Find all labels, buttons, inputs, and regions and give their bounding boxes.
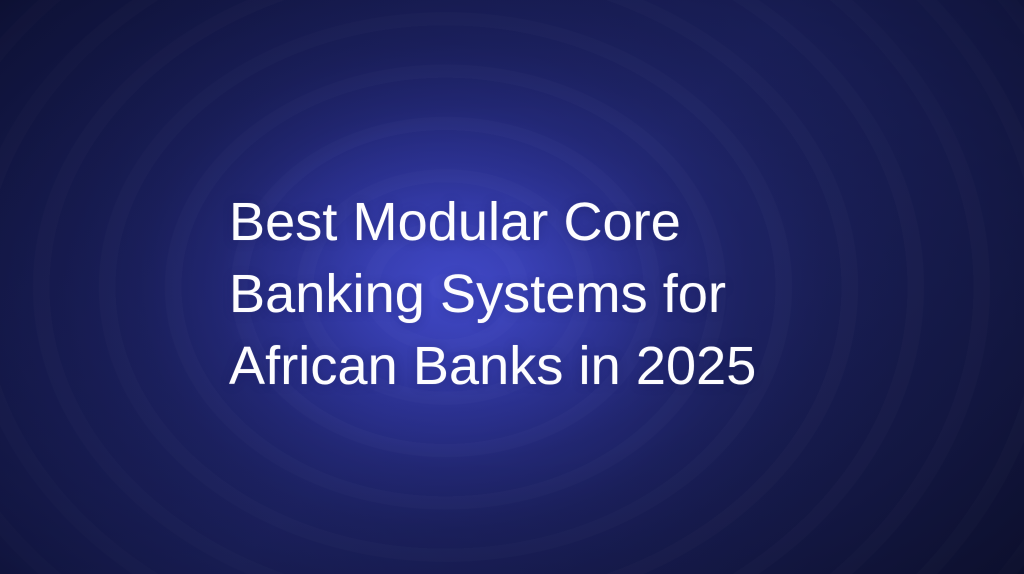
slide-canvas: Best Modular Core Banking Systems for Af…	[0, 0, 1024, 574]
slide-headline: Best Modular Core Banking Systems for Af…	[229, 186, 869, 402]
slide-content: Best Modular Core Banking Systems for Af…	[0, 0, 1024, 574]
